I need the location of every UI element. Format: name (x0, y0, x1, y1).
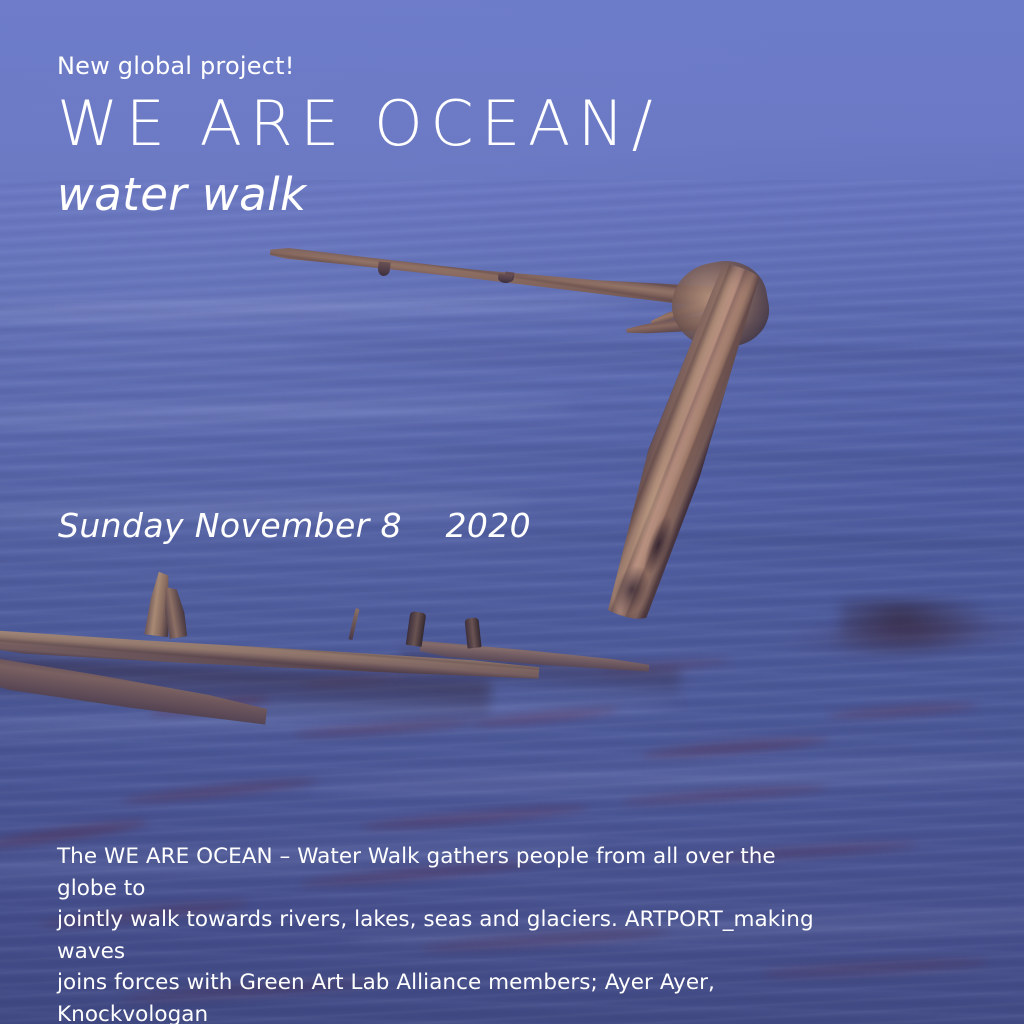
description-line: The WE ARE OCEAN – Water Walk gathers pe… (57, 841, 817, 904)
description-text: The WE ARE OCEAN – Water Walk gathers pe… (57, 841, 817, 1024)
event-date: Sunday November 8 2020 (58, 506, 531, 545)
page-subtitle: water walk (57, 168, 306, 221)
poster-canvas: New global project! WE ARE OCEAN/ water … (0, 0, 1024, 1024)
page-title: WE ARE OCEAN/ (57, 92, 660, 156)
description-line: jointly walk towards rivers, lakes, seas… (57, 904, 817, 967)
description-line: joins forces with Green Art Lab Alliance… (57, 967, 817, 1024)
kicker-label: New global project! (57, 52, 295, 80)
